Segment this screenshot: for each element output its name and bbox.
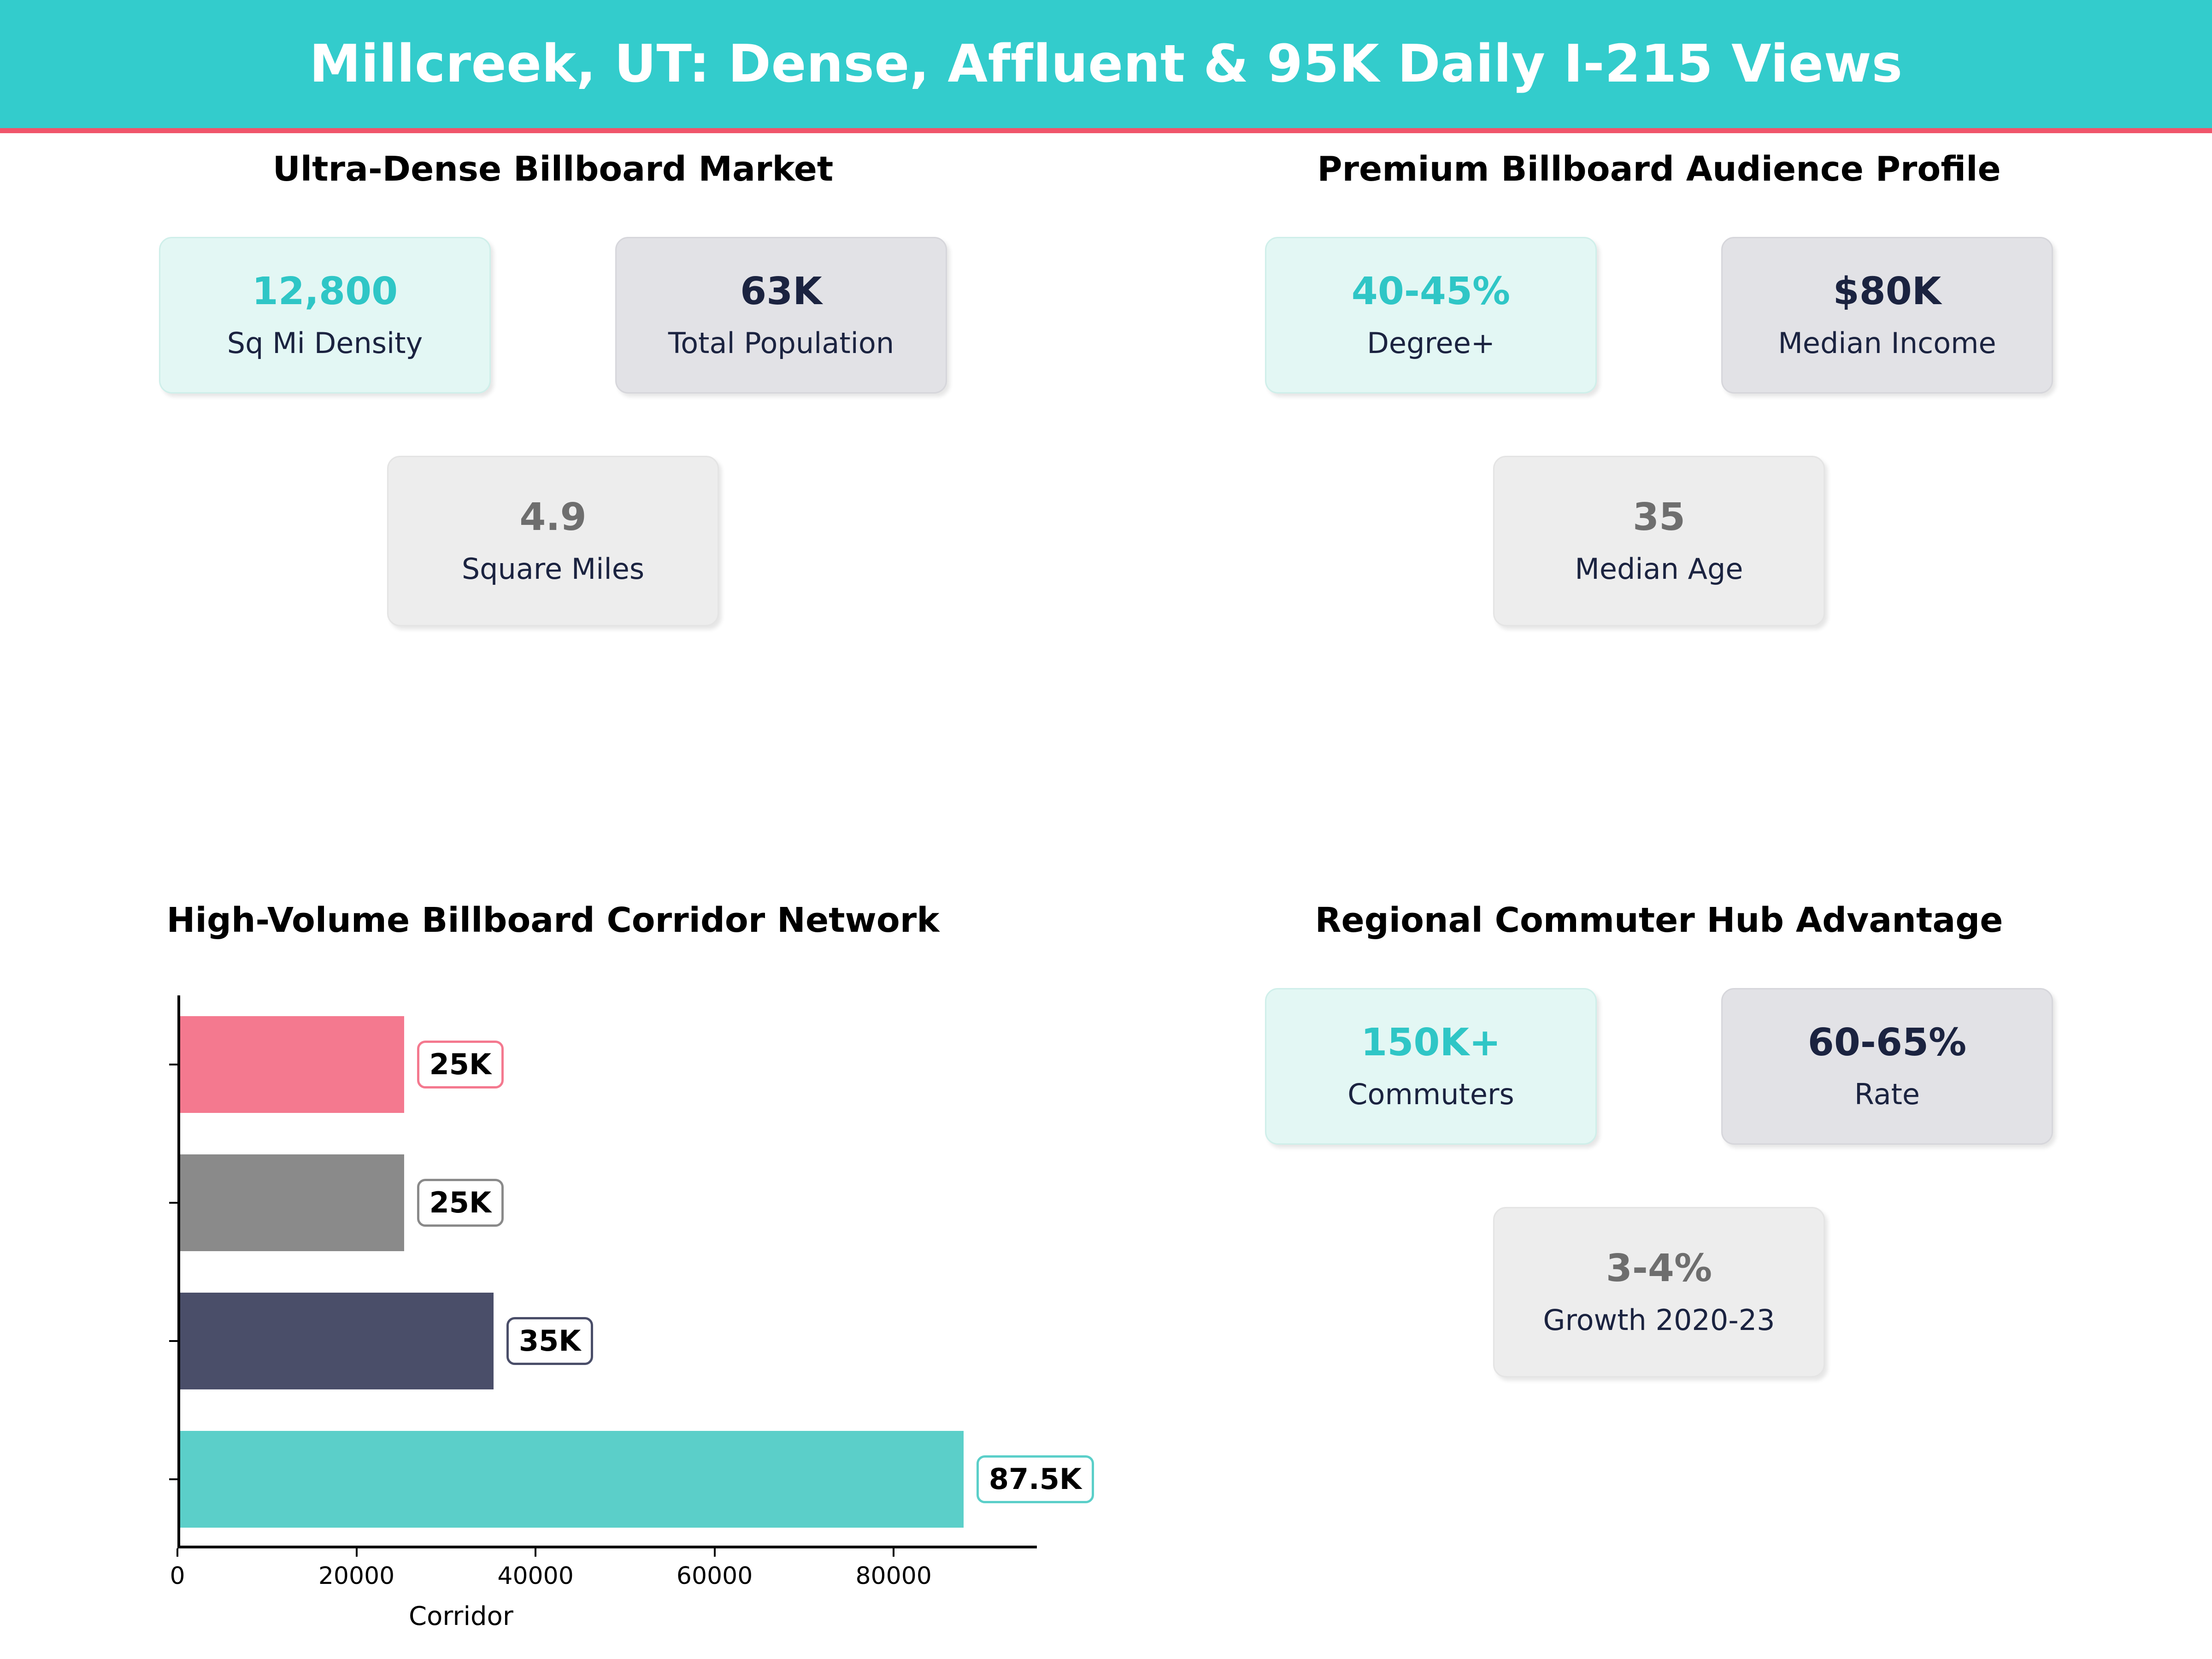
kpi-row-secondary: 4.9 Square Miles (0, 456, 1106, 626)
panel-title-bottom-right: Regional Commuter Hub Advantage (1315, 903, 2003, 937)
bar-chart: 87.5K35K25K25K I-215 Belt RouteState St … (0, 954, 1106, 1636)
bar-row: 35K (180, 1293, 593, 1389)
bar-row: 25K (180, 1016, 504, 1113)
x-tick-mark (535, 1548, 536, 1557)
kpi-card-commuters[interactable]: 150K+ Commuters (1265, 988, 1597, 1145)
bar-value-label: 87.5K (977, 1455, 1094, 1503)
panel-title-row: High-Volume Billboard Corridor Network (0, 903, 1106, 937)
kpi-value: 60-65% (1808, 1024, 1966, 1062)
x-tick-mark (176, 1548, 178, 1557)
kpi-label: Square Miles (462, 555, 644, 583)
bar[interactable] (180, 1293, 494, 1389)
panel-title-row: Regional Commuter Hub Advantage (1106, 903, 2212, 937)
kpi-label: Median Income (1778, 329, 1996, 358)
panel-title-row: Premium Billboard Audience Profile (1106, 152, 2212, 186)
x-tick-label: 80000 (855, 1564, 931, 1588)
kpi-value: 35 (1633, 499, 1685, 536)
panel-title-top-left: Ultra-Dense Billboard Market (273, 152, 834, 186)
kpi-label: Total Population (668, 329, 894, 358)
x-tick-mark (714, 1548, 716, 1557)
y-tick-mark (169, 1202, 177, 1204)
kpi-row-secondary: 35 Median Age (1106, 456, 2212, 626)
panel-regional-commuter-hub-advantage: Regional Commuter Hub Advantage 150K+ Co… (1106, 903, 2212, 1659)
panel-title-bottom-left: High-Volume Billboard Corridor Network (167, 903, 940, 937)
kpi-label: Commuters (1347, 1080, 1514, 1109)
kpi-value: 12,800 (252, 273, 398, 311)
kpi-row-secondary: 3-4% Growth 2020-23 (1106, 1207, 2212, 1377)
kpi-area-bottom-right: 150K+ Commuters 60-65% Rate 3-4% Growth … (1106, 988, 2212, 1377)
kpi-value: 150K+ (1361, 1024, 1500, 1062)
panel-ultra-dense-billboard-market: Ultra-Dense Billboard Market 12,800 Sq M… (0, 152, 1106, 871)
kpi-value: 63K (740, 273, 822, 311)
kpi-card-rate[interactable]: 60-65% Rate (1721, 988, 2053, 1145)
kpi-value: $80K (1833, 273, 1941, 311)
y-tick-mark (169, 1064, 177, 1065)
x-tick-label: 60000 (677, 1564, 753, 1588)
panel-title-top-right: Premium Billboard Audience Profile (1317, 152, 2000, 186)
x-tick-label: 0 (170, 1564, 185, 1588)
kpi-card-growth[interactable]: 3-4% Growth 2020-23 (1493, 1207, 1825, 1377)
bar[interactable] (180, 1431, 964, 1528)
kpi-card-median-income[interactable]: $80K Median Income (1721, 237, 2053, 394)
kpi-row-primary: 40-45% Degree+ $80K Median Income (1106, 237, 2212, 394)
kpi-card-degree-plus[interactable]: 40-45% Degree+ (1265, 237, 1597, 394)
x-axis-line (177, 1546, 1037, 1548)
kpi-row-primary: 12,800 Sq Mi Density 63K Total Populatio… (0, 237, 1106, 394)
kpi-label: Sq Mi Density (227, 329, 423, 358)
kpi-area-top-right: 40-45% Degree+ $80K Median Income 35 Med… (1106, 237, 2212, 626)
kpi-label: Degree+ (1367, 329, 1495, 358)
page-title: Millcreek, UT: Dense, Affluent & 95K Dai… (309, 38, 1902, 90)
bar-row: 25K (180, 1154, 504, 1251)
bar-row: 87.5K (180, 1431, 1094, 1528)
x-tick-mark (893, 1548, 894, 1557)
kpi-card-total-population[interactable]: 63K Total Population (615, 237, 947, 394)
kpi-card-median-age[interactable]: 35 Median Age (1493, 456, 1825, 626)
bar[interactable] (180, 1154, 404, 1251)
bar-value-label: 25K (417, 1179, 504, 1227)
y-tick-mark (169, 1478, 177, 1480)
header-accent-bar (0, 128, 2212, 133)
panel-high-volume-billboard-corridor-network: High-Volume Billboard Corridor Network 8… (0, 903, 1106, 1659)
bar-value-label: 25K (417, 1041, 504, 1088)
kpi-label: Growth 2020-23 (1543, 1306, 1775, 1335)
panel-title-row: Ultra-Dense Billboard Market (0, 152, 1106, 186)
kpi-value: 40-45% (1352, 273, 1510, 311)
kpi-card-square-miles[interactable]: 4.9 Square Miles (387, 456, 719, 626)
kpi-label: Rate (1854, 1080, 1920, 1109)
y-tick-mark (169, 1340, 177, 1342)
x-tick-label: 40000 (497, 1564, 573, 1588)
kpi-card-sq-mi-density[interactable]: 12,800 Sq Mi Density (159, 237, 491, 394)
bar-value-label: 35K (506, 1317, 593, 1365)
plot-area: 87.5K35K25K25K I-215 Belt RouteState St … (177, 995, 1037, 1548)
kpi-value: 3-4% (1606, 1250, 1712, 1288)
kpi-area-top-left: 12,800 Sq Mi Density 63K Total Populatio… (0, 237, 1106, 626)
kpi-label: Median Age (1575, 555, 1743, 583)
x-tick-label: 20000 (318, 1564, 394, 1588)
bar[interactable] (180, 1016, 404, 1113)
x-tick-mark (356, 1548, 358, 1557)
kpi-value: 4.9 (519, 499, 586, 536)
x-axis-title: Corridor (409, 1604, 513, 1630)
kpi-row-primary: 150K+ Commuters 60-65% Rate (1106, 988, 2212, 1145)
header-banner: Millcreek, UT: Dense, Affluent & 95K Dai… (0, 0, 2212, 128)
panel-premium-billboard-audience-profile: Premium Billboard Audience Profile 40-45… (1106, 152, 2212, 871)
